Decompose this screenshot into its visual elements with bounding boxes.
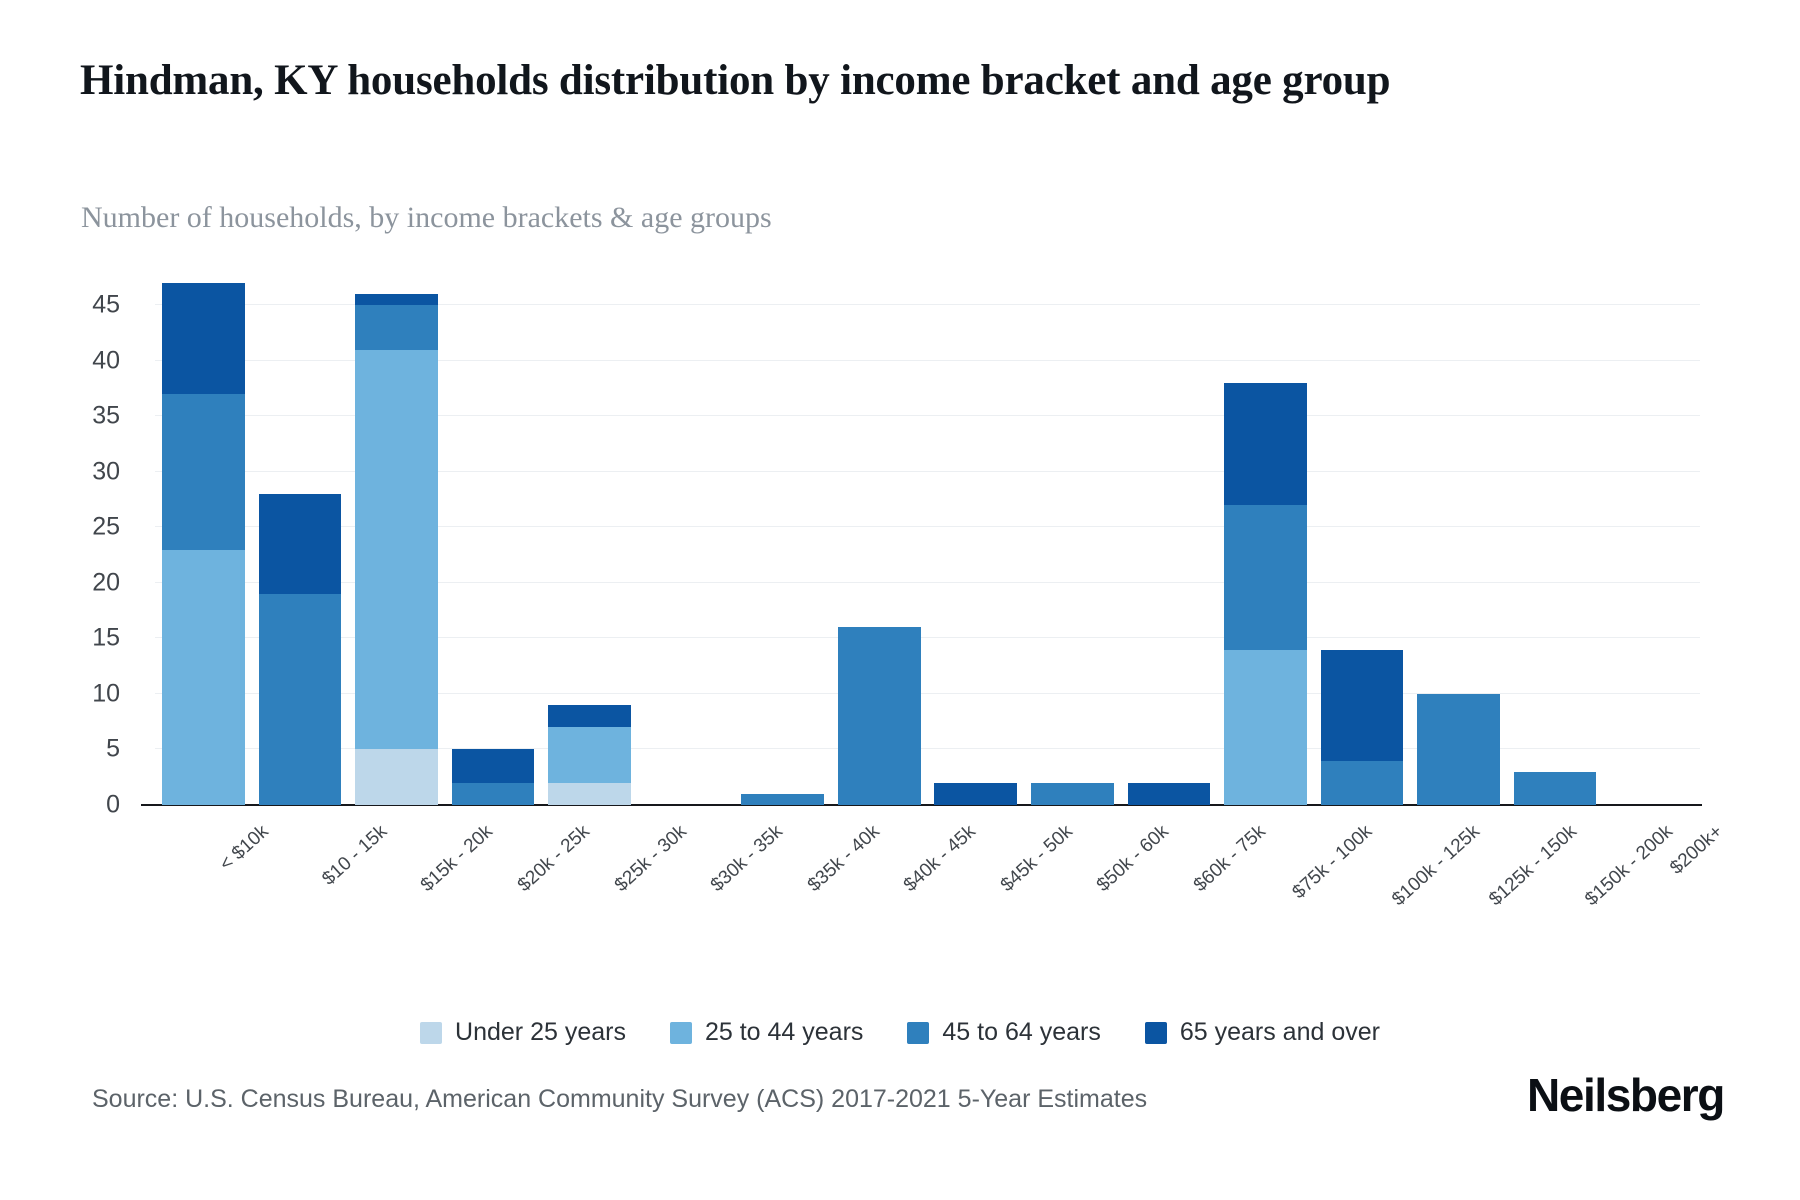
- bar-segment[interactable]: [1321, 761, 1404, 805]
- bar-stack[interactable]: [1031, 283, 1114, 805]
- bar-stack[interactable]: [259, 283, 342, 805]
- bar-segment[interactable]: [1224, 505, 1307, 649]
- legend-label: 25 to 44 years: [705, 1018, 863, 1047]
- y-axis-tick-label: 10: [0, 679, 142, 708]
- bar-segment[interactable]: [1224, 383, 1307, 505]
- chart-legend: Under 25 years25 to 44 years45 to 64 yea…: [0, 1018, 1800, 1047]
- plot-area: 051015202530354045 < $10k$10 - 15k$15k -…: [155, 283, 1700, 805]
- bar-segment[interactable]: [162, 550, 245, 805]
- bar-stack[interactable]: [645, 283, 728, 805]
- chart-page: Hindman, KY households distribution by i…: [0, 0, 1800, 1200]
- bar-series-group: [155, 283, 1700, 805]
- bar-stack[interactable]: [838, 283, 921, 805]
- bar-segment[interactable]: [452, 783, 535, 805]
- brand-logo: Neilsberg: [1527, 1068, 1724, 1122]
- bar-stack[interactable]: [452, 283, 535, 805]
- bar-segment[interactable]: [259, 594, 342, 805]
- bar-segment[interactable]: [1514, 772, 1597, 805]
- bar-stack[interactable]: [1610, 283, 1693, 805]
- x-axis-tick-label: $20k - 25k: [514, 821, 595, 897]
- bar-segment[interactable]: [1321, 650, 1404, 761]
- x-axis-tick-label: $75k - 100k: [1289, 821, 1378, 904]
- x-axis-tick-label: $10 - 15k: [318, 821, 392, 890]
- y-axis-tick-label: 45: [0, 291, 142, 320]
- bar-segment[interactable]: [741, 794, 824, 805]
- bar-stack[interactable]: [548, 283, 631, 805]
- bar-stack[interactable]: [1514, 283, 1597, 805]
- bar-stack[interactable]: [1224, 283, 1307, 805]
- y-axis-tick-label: 20: [0, 568, 142, 597]
- x-axis-tick-label: < $10k: [216, 821, 274, 876]
- bar-segment[interactable]: [1417, 694, 1500, 805]
- x-axis-tick-label: $50k - 60k: [1093, 821, 1174, 897]
- bar-stack[interactable]: [355, 283, 438, 805]
- y-axis-tick-label: 35: [0, 402, 142, 431]
- y-axis-tick-label: 25: [0, 513, 142, 542]
- bar-segment[interactable]: [548, 705, 631, 727]
- bar-segment[interactable]: [259, 494, 342, 594]
- bar-segment[interactable]: [548, 727, 631, 783]
- y-axis-tick-label: 40: [0, 346, 142, 375]
- bar-stack[interactable]: [1128, 283, 1211, 805]
- x-axis-tick-label: $125k - 150k: [1485, 821, 1581, 911]
- legend-swatch-icon: [907, 1022, 929, 1044]
- legend-item[interactable]: Under 25 years: [420, 1018, 626, 1047]
- bar-segment[interactable]: [1128, 783, 1211, 805]
- legend-swatch-icon: [1145, 1022, 1167, 1044]
- legend-item[interactable]: 45 to 64 years: [907, 1018, 1100, 1047]
- legend-swatch-icon: [420, 1022, 442, 1044]
- legend-label: Under 25 years: [455, 1018, 626, 1047]
- bar-segment[interactable]: [355, 305, 438, 349]
- bar-segment[interactable]: [1224, 650, 1307, 805]
- bar-segment[interactable]: [452, 749, 535, 782]
- x-axis-tick-label: $40k - 45k: [900, 821, 981, 897]
- legend-item[interactable]: 25 to 44 years: [670, 1018, 863, 1047]
- bar-segment[interactable]: [1031, 783, 1114, 805]
- bar-segment[interactable]: [162, 283, 245, 394]
- bar-segment[interactable]: [355, 350, 438, 750]
- source-note: Source: U.S. Census Bureau, American Com…: [92, 1085, 1147, 1114]
- y-axis-tick-label: 0: [0, 791, 142, 820]
- legend-swatch-icon: [670, 1022, 692, 1044]
- y-axis-tick-label: 5: [0, 735, 142, 764]
- legend-label: 65 years and over: [1180, 1018, 1380, 1047]
- x-axis-tick-label: $15k - 20k: [417, 821, 498, 897]
- x-axis-tick-label: $200k+: [1666, 821, 1727, 879]
- x-axis-tick-label: $100k - 125k: [1388, 821, 1484, 911]
- page-title: Hindman, KY households distribution by i…: [80, 52, 1640, 109]
- legend-label: 45 to 64 years: [942, 1018, 1100, 1047]
- x-axis-tick-label: $150k - 200k: [1581, 821, 1677, 911]
- bar-segment[interactable]: [162, 394, 245, 549]
- x-axis-tick-label: $25k - 30k: [610, 821, 691, 897]
- bar-stack[interactable]: [1321, 283, 1404, 805]
- bar-segment[interactable]: [838, 627, 921, 805]
- bar-stack[interactable]: [934, 283, 1017, 805]
- page-subtitle: Number of households, by income brackets…: [81, 200, 1481, 236]
- x-axis-tick-label: $60k - 75k: [1190, 821, 1271, 897]
- x-axis-tick-label: $45k - 50k: [997, 821, 1078, 897]
- x-axis-tick-label: $35k - 40k: [803, 821, 884, 897]
- bar-segment[interactable]: [934, 783, 1017, 805]
- bar-segment[interactable]: [548, 783, 631, 805]
- y-axis-tick-label: 15: [0, 624, 142, 653]
- bar-stack[interactable]: [162, 283, 245, 805]
- y-axis-tick-label: 30: [0, 457, 142, 486]
- bar-stack[interactable]: [741, 283, 824, 805]
- bar-stack[interactable]: [1417, 283, 1500, 805]
- bar-segment[interactable]: [355, 294, 438, 305]
- bar-segment[interactable]: [355, 749, 438, 805]
- legend-item[interactable]: 65 years and over: [1145, 1018, 1380, 1047]
- x-axis-tick-label: $30k - 35k: [707, 821, 788, 897]
